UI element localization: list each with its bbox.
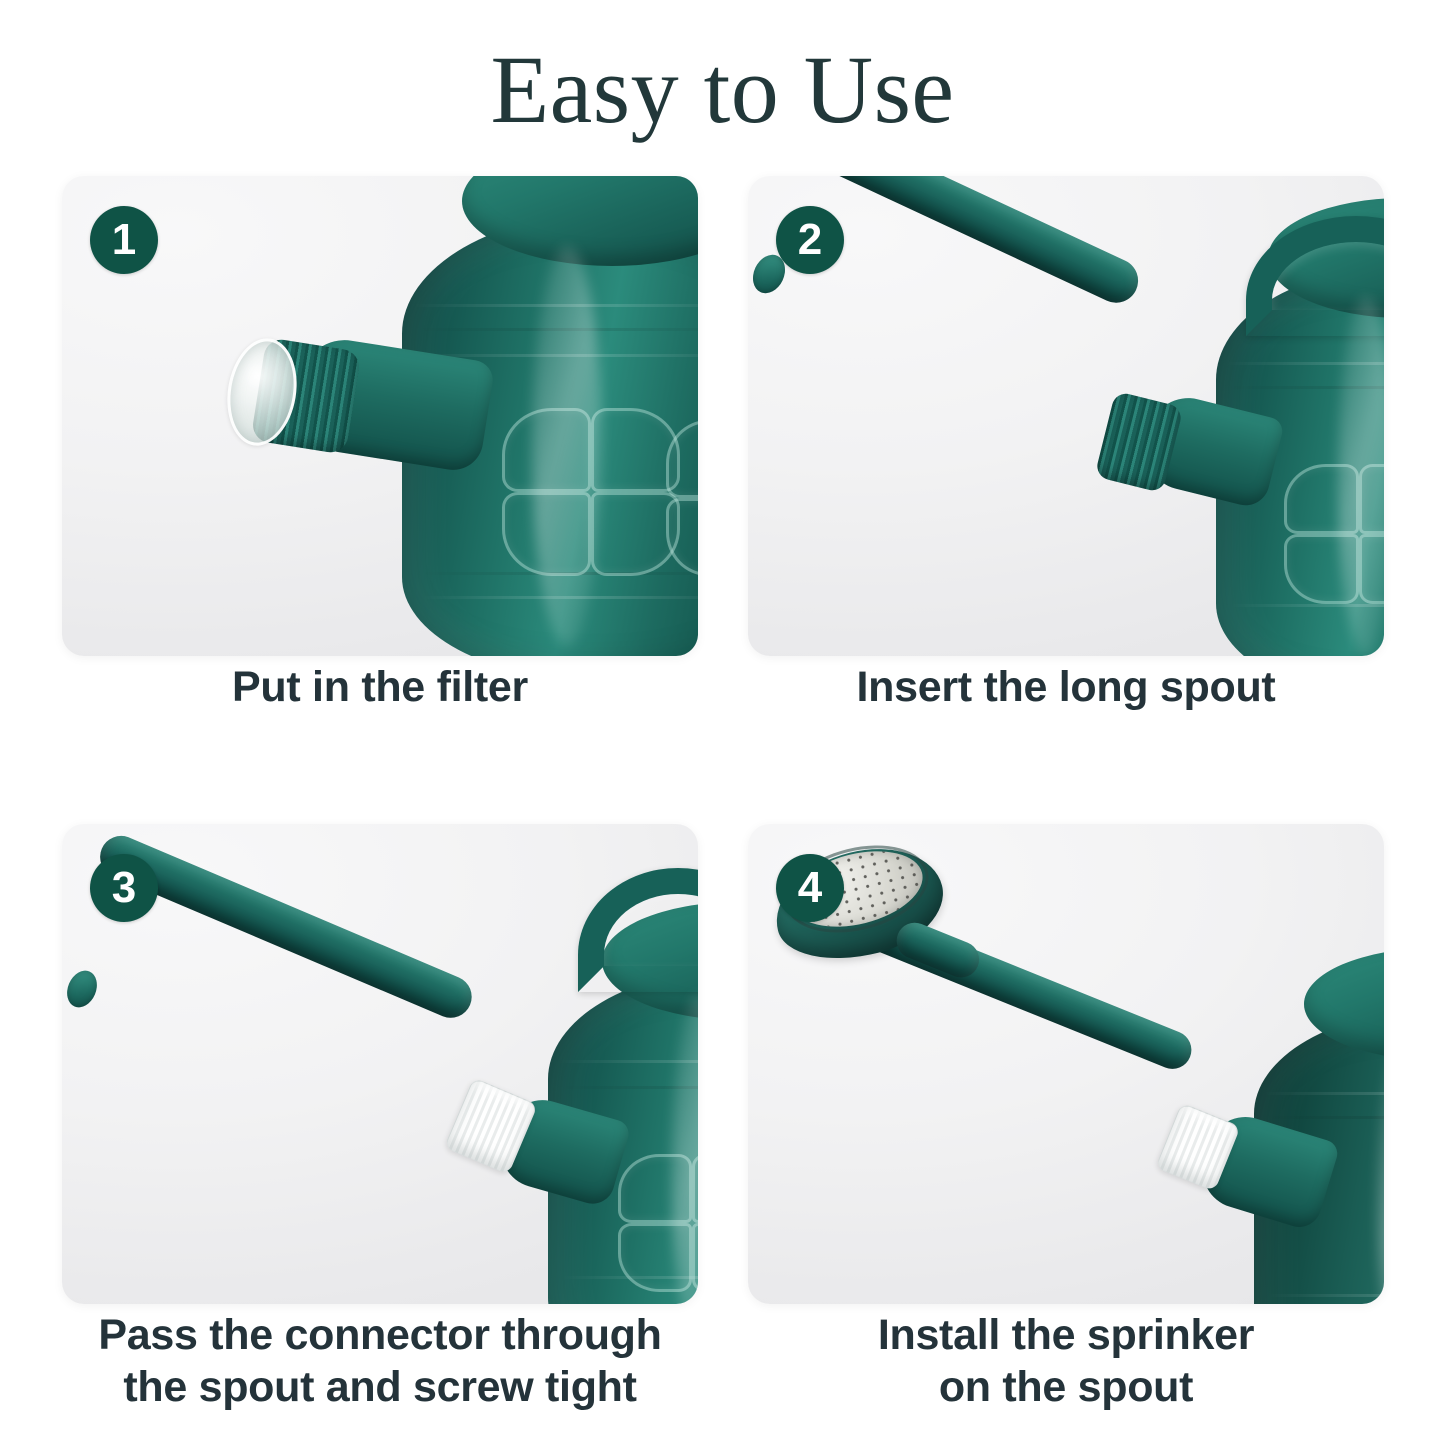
step-card-3: 3 Pass the connector through the spout a…	[62, 824, 698, 1410]
step-image-panel-4: 4	[748, 824, 1384, 1304]
step-image-panel-2: 2	[748, 176, 1384, 656]
flower-petal	[692, 1223, 698, 1292]
step-badge-3: 3	[90, 854, 158, 922]
flower-petal	[618, 1154, 692, 1223]
watering-can-filter-illustration	[62, 176, 698, 656]
flower-petal	[1359, 534, 1384, 604]
caption-line: Install the sprinker	[748, 1310, 1384, 1362]
flower-petal	[1284, 534, 1359, 604]
step-caption-1: Put in the filter	[62, 662, 698, 714]
flower-petal	[666, 498, 698, 576]
flower-emboss	[618, 1154, 698, 1292]
can-rib	[1264, 1092, 1384, 1095]
flower-petal	[692, 1154, 698, 1223]
flower-emboss-partial	[666, 420, 698, 576]
caption-line: Insert the long spout	[748, 662, 1384, 714]
step-card-1: 1 Put in the filter	[62, 176, 698, 762]
step-caption-3: Pass the connector through the spout and…	[62, 1310, 698, 1413]
long-spout	[94, 829, 479, 1024]
flower-petal	[502, 408, 591, 492]
watering-can-sprinkler-illustration	[748, 824, 1384, 1304]
flower-petal	[666, 420, 698, 498]
spout-tip	[62, 966, 102, 1012]
step-card-4: 4 Install the sprinker on the spout	[748, 824, 1384, 1410]
infographic-page: Easy to Use	[0, 0, 1445, 1445]
can-rib	[414, 304, 698, 307]
page-title: Easy to Use	[0, 40, 1445, 141]
can-rib	[1264, 1116, 1384, 1119]
watering-can-spout-illustration	[748, 176, 1384, 656]
can-rib	[414, 328, 698, 331]
caption-line: Put in the filter	[62, 662, 698, 714]
step-caption-2: Insert the long spout	[748, 662, 1384, 714]
steps-grid: 1 Put in the filter	[62, 176, 1384, 1416]
can-rib	[422, 596, 698, 599]
can-handle	[1246, 216, 1384, 336]
step-badge-2: 2	[776, 206, 844, 274]
flower-emboss	[1284, 464, 1384, 604]
can-handle	[578, 868, 698, 992]
can-rib	[1226, 362, 1384, 365]
flower-petal	[1359, 464, 1384, 534]
can-rib	[1268, 1294, 1384, 1297]
caption-line: on the spout	[748, 1362, 1384, 1414]
step-badge-1: 1	[90, 206, 158, 274]
can-rib	[1226, 386, 1384, 389]
can-rib	[558, 1086, 698, 1089]
watering-can-connector-illustration	[62, 824, 698, 1304]
can-rib	[558, 1060, 698, 1063]
flower-petal	[502, 492, 591, 576]
flower-petal	[1284, 464, 1359, 534]
step-caption-4: Install the sprinker on the spout	[748, 1310, 1384, 1413]
caption-line: the spout and screw tight	[62, 1362, 698, 1414]
step-image-panel-3: 3	[62, 824, 698, 1304]
can-rib	[1230, 604, 1384, 607]
step-card-2: 2 Insert the long spout	[748, 176, 1384, 762]
step-badge-4: 4	[776, 854, 844, 922]
caption-line: Pass the connector through	[62, 1310, 698, 1362]
step-image-panel-1: 1	[62, 176, 698, 656]
flower-emboss	[502, 408, 680, 576]
flower-petal	[618, 1223, 692, 1292]
